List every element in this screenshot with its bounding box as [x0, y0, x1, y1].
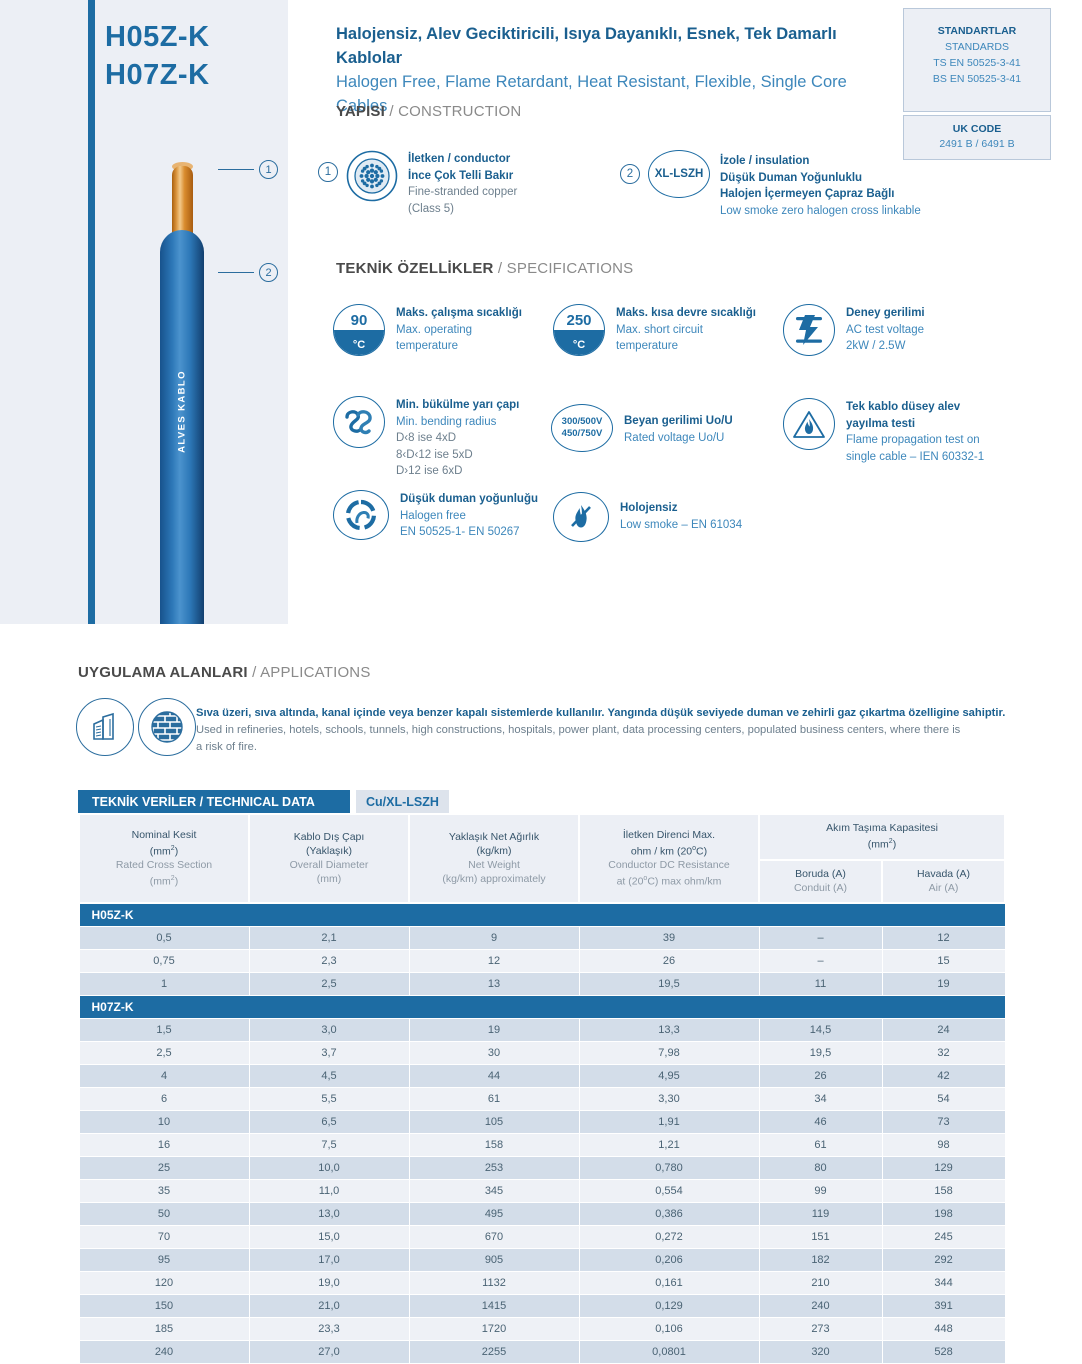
table-cell: 2,1	[249, 926, 409, 949]
spec-halogen-free: Holojensiz Low smoke – EN 61034	[553, 492, 742, 542]
spec-3-line3: 2kW / 2.5W	[846, 338, 925, 355]
table-cell: 120	[79, 1271, 249, 1294]
table-cell: 26	[579, 949, 759, 972]
table-row: 15021,014150,129240391	[79, 1294, 1005, 1317]
table-cell: –	[759, 926, 882, 949]
table-cell: 50	[79, 1202, 249, 1225]
table-cell: 44	[409, 1064, 579, 1087]
spec-4-line4: 8‹D‹12 ise 5xD	[396, 447, 519, 464]
conduit-en: Conduit (A)	[762, 881, 879, 895]
table-row: 7015,06700,272151245	[79, 1225, 1005, 1248]
cable-illustration: ALVES KABLO	[150, 148, 220, 624]
construction-item-1-text: İletken / conductor İnce Çok Telli Bakır…	[408, 150, 517, 217]
spec-1-unit: °C	[333, 339, 385, 351]
callout-2: 2	[218, 263, 278, 282]
spec-6-title-2: yayılma testi	[846, 416, 984, 433]
table-cell: 15	[882, 949, 1005, 972]
spec-7-line3: EN 50525-1- EN 50267	[400, 524, 538, 541]
table-cell: 35	[79, 1179, 249, 1202]
table-cell: 24	[882, 1018, 1005, 1041]
conduit-tr: Boruda (A)	[762, 867, 879, 881]
table-cell: 19,5	[579, 972, 759, 995]
conductor-title: İletken / conductor	[408, 151, 517, 168]
table-cell: 99	[759, 1179, 882, 1202]
col3-en-2: (kg/km) approximately	[412, 872, 576, 886]
table-cell: 185	[79, 1317, 249, 1340]
specifications-heading: TEKNİK ÖZELLİKLER / SPECIFICATIONS	[336, 260, 633, 277]
rated-voltage-icon: 300/500V 450/750V	[551, 404, 613, 452]
stranded-conductor-icon	[346, 150, 398, 207]
col2-tr-2: (Yaklaşık)	[252, 844, 406, 858]
table-group-label: H05Z-K	[79, 903, 1005, 927]
table-cell: 158	[882, 1179, 1005, 1202]
col-current-conduit: Boruda (A) Conduit (A)	[759, 860, 882, 903]
table-cell: 240	[79, 1340, 249, 1363]
table-cell: 3,30	[579, 1087, 759, 1110]
table-cell: 448	[882, 1317, 1005, 1340]
table-cell: 1720	[409, 1317, 579, 1340]
table-row: 12,51319,51119	[79, 972, 1005, 995]
col-current-capacity-group: Akım Taşıma Kapasitesi (mm2)	[759, 814, 1005, 860]
table-cell: 2,3	[249, 949, 409, 972]
spec-2-line3: temperature	[616, 338, 756, 355]
table-row: 18523,317200,106273448	[79, 1317, 1005, 1340]
spec-2-title: Maks. kısa devre sıcaklığı	[616, 305, 756, 322]
table-cell: 1	[79, 972, 249, 995]
specifications-heading-en: SPECIFICATIONS	[507, 260, 634, 277]
construction-item-conductor: 1 İletken / conductor İnce Ç	[318, 150, 517, 217]
spec-1-line3: temperature	[396, 338, 522, 355]
spec-3-title: Deney gerilimi	[846, 305, 925, 322]
table-cell: 70	[79, 1225, 249, 1248]
standards-title-en: STANDARDS	[910, 39, 1044, 55]
table-cell: 345	[409, 1179, 579, 1202]
spec-2-value: 250	[553, 312, 605, 329]
table-cell: 198	[882, 1202, 1005, 1225]
table-cell: 151	[759, 1225, 882, 1248]
table-cell: 905	[409, 1248, 579, 1271]
spec-2-text: Maks. kısa devre sıcaklığı Max. short ci…	[616, 304, 756, 355]
spec-ac-test-voltage: Deney gerilimi AC test voltage 2kW / 2.5…	[783, 304, 925, 356]
construction-heading-sep: /	[385, 103, 398, 120]
technical-data-table: Nominal Kesit (mm2) Rated Cross Section …	[78, 813, 1006, 1364]
air-tr: Havada (A)	[885, 867, 1002, 881]
col4-en-2: at (20oC) max ohm/km	[582, 872, 756, 889]
spec-4-title: Min. bükülme yarı çapı	[396, 397, 519, 414]
applications-text-tr: Sıva üzeri, sıva altında, kanal içinde v…	[196, 705, 1018, 722]
table-cell: 39	[579, 926, 759, 949]
standards-line-2: BS EN 50525-3-41	[910, 71, 1044, 87]
low-smoke-density-icon	[333, 490, 389, 540]
spec-5-title: Beyan gerilimi Uo/U	[624, 413, 733, 430]
col3-en-1: Net Weight	[412, 858, 576, 872]
xl-lszh-label: XL-LSZH	[648, 150, 710, 198]
table-material-badge: Cu/XL-LSZH	[356, 790, 449, 813]
table-cell: 150	[79, 1294, 249, 1317]
callout-1-number: 1	[259, 160, 278, 179]
spec-flame-propagation: Tek kablo düsey alev yayılma testi Flame…	[783, 398, 984, 465]
table-cell: 25	[79, 1156, 249, 1179]
table-cell: 129	[882, 1156, 1005, 1179]
building-icon	[76, 698, 134, 756]
table-cell: 0,386	[579, 1202, 759, 1225]
table-cell: 2,5	[249, 972, 409, 995]
xl-lszh-badge-icon: XL-LSZH	[648, 150, 710, 198]
bending-radius-icon	[333, 396, 385, 448]
table-cell: 0,75	[79, 949, 249, 972]
table-cell: 17,0	[249, 1248, 409, 1271]
col1-en-1: Rated Cross Section	[82, 858, 246, 872]
table-cell: 245	[882, 1225, 1005, 1248]
applications-text-en-2: a risk of fire.	[196, 739, 1018, 756]
spec-6-line2: Flame propagation test on	[846, 432, 984, 449]
application-icons	[76, 698, 196, 756]
table-cell: 182	[759, 1248, 882, 1271]
table-cell: 670	[409, 1225, 579, 1248]
table-row: 0,52,1939–12	[79, 926, 1005, 949]
callout-line	[218, 169, 254, 171]
spec-4-line2: Min. bending radius	[396, 414, 519, 431]
table-cell: 0,554	[579, 1179, 759, 1202]
table-cell: –	[759, 949, 882, 972]
table-cell: 3,0	[249, 1018, 409, 1041]
col-rated-cross-section: Nominal Kesit (mm2) Rated Cross Section …	[79, 814, 249, 903]
table-cell: 15,0	[249, 1225, 409, 1248]
col1-en-2: (mm2)	[82, 872, 246, 889]
spec-8-title: Holojensiz	[620, 500, 742, 517]
table-row: 3511,03450,55499158	[79, 1179, 1005, 1202]
table-cell: 11	[759, 972, 882, 995]
table-cell: 2,5	[79, 1041, 249, 1064]
table-cell: 0,272	[579, 1225, 759, 1248]
halogen-free-icon	[553, 492, 609, 542]
table-cell: 23,3	[249, 1317, 409, 1340]
table-group-row: H05Z-K	[79, 903, 1005, 927]
table-cell: 16	[79, 1133, 249, 1156]
col-net-weight: Yaklaşık Net Ağırlık (kg/km) Net Weight …	[409, 814, 579, 903]
table-cell: 95	[79, 1248, 249, 1271]
spec-4-line5: D›12 ise 6xD	[396, 463, 519, 480]
spec-7-title: Düşük duman yoğunluğu	[400, 491, 538, 508]
table-cell: 98	[882, 1133, 1005, 1156]
table-header-row-1: Nominal Kesit (mm2) Rated Cross Section …	[79, 814, 1005, 860]
col1-tr-2: (mm2)	[82, 842, 246, 859]
table-row: 1,53,01913,314,524	[79, 1018, 1005, 1041]
construction-item-1-number: 1	[318, 162, 338, 182]
table-title: TEKNİK VERİLER / TECHNICAL DATA	[78, 790, 350, 813]
table-row: 65,5613,303454	[79, 1087, 1005, 1110]
table-cell: 10,0	[249, 1156, 409, 1179]
table-cell: 61	[759, 1133, 882, 1156]
standards-main: STANDARTLAR STANDARDS TS EN 50525-3-41 B…	[903, 8, 1051, 112]
spec-rated-voltage: 300/500V 450/750V Beyan gerilimi Uo/U Ra…	[551, 404, 733, 452]
table-cell: 12	[882, 926, 1005, 949]
table-cell: 13,3	[579, 1018, 759, 1041]
spec-bending-radius: Min. bükülme yarı çapı Min. bending radi…	[333, 396, 519, 480]
uk-code-value: 2491 B / 6491 B	[908, 137, 1046, 152]
spec-6-text: Tek kablo düsey alev yayılma testi Flame…	[846, 398, 984, 465]
copper-core	[172, 166, 193, 238]
table-row: 2,53,7307,9819,532	[79, 1041, 1005, 1064]
table-cell: 7,98	[579, 1041, 759, 1064]
table-cell: 4,95	[579, 1064, 759, 1087]
max-operating-temperature-icon: 90 °C	[333, 304, 385, 356]
table-cell: 19,5	[759, 1041, 882, 1064]
specifications-heading-sep: /	[494, 260, 507, 277]
product-code-1: H05Z-K	[105, 18, 275, 56]
spec-8-line2: Low smoke – EN 61034	[620, 517, 742, 534]
table-row: 9517,09050,206182292	[79, 1248, 1005, 1271]
table-cell: 61	[409, 1087, 579, 1110]
table-cell: 6,5	[249, 1110, 409, 1133]
accent-bar	[88, 0, 95, 624]
insulation-line2: Düşük Duman Yoğunluklu	[720, 170, 921, 187]
table-cell: 6	[79, 1087, 249, 1110]
table-cell: 0,129	[579, 1294, 759, 1317]
table-cell: 10	[79, 1110, 249, 1133]
table-row: 0,752,31226–15	[79, 949, 1005, 972]
col1-tr-1: Nominal Kesit	[82, 828, 246, 842]
table-row: 44,5444,952642	[79, 1064, 1005, 1087]
col-current-air: Havada (A) Air (A)	[882, 860, 1005, 903]
callout-line	[218, 272, 254, 274]
uk-code-box: UK CODE 2491 B / 6491 B	[903, 115, 1051, 160]
insulation-title: İzole / insulation	[720, 153, 921, 170]
conductor-line2: İnce Çok Telli Bakır	[408, 168, 517, 185]
table-cell: 1,91	[579, 1110, 759, 1133]
table-body: H05Z-K0,52,1939–120,752,31226–1512,51319…	[79, 903, 1005, 1364]
table-cell: 240	[759, 1294, 882, 1317]
spec-4-line3: D‹8 ise 4xD	[396, 430, 519, 447]
table-cell: 391	[882, 1294, 1005, 1317]
table-cell: 27,0	[249, 1340, 409, 1363]
standards-line-1: TS EN 50525-3-41	[910, 55, 1044, 71]
col-dc-resistance: İletken Direnci Max. ohm / km (20oC) Con…	[579, 814, 759, 903]
current-group-tr-1: Akım Taşıma Kapasitesi	[762, 821, 1002, 835]
table-cell: 0,780	[579, 1156, 759, 1179]
rated-voltage-line-1: 300/500V	[562, 416, 603, 428]
current-group-tr-2: (mm2)	[762, 835, 1002, 852]
table-cell: 253	[409, 1156, 579, 1179]
table-group-row: H07Z-K	[79, 995, 1005, 1018]
col4-tr-1: İletken Direnci Max.	[582, 828, 756, 842]
table-cell: 1,21	[579, 1133, 759, 1156]
standards-box: STANDARTLAR STANDARDS TS EN 50525-3-41 B…	[903, 8, 1051, 160]
table-cell: 119	[759, 1202, 882, 1225]
spec-8-text: Holojensiz Low smoke – EN 61034	[620, 492, 742, 533]
construction-heading-tr: YAPISI	[336, 103, 385, 120]
spec-4-text: Min. bükülme yarı çapı Min. bending radi…	[396, 396, 519, 480]
applications-heading-sep: /	[248, 664, 260, 681]
spec-max-operating-temperature: 90 °C Maks. çalışma sıcaklığı Max. opera…	[333, 304, 522, 356]
table-cell: 273	[759, 1317, 882, 1340]
table-cell: 292	[882, 1248, 1005, 1271]
table-cell: 4	[79, 1064, 249, 1087]
construction-heading-en: CONSTRUCTION	[398, 103, 521, 120]
applications-heading: UYGULAMA ALANLARI / APPLICATIONS	[78, 664, 371, 681]
rated-voltage-line-2: 450/750V	[562, 428, 603, 440]
table-row: 106,51051,914673	[79, 1110, 1005, 1133]
cable-brand-text: ALVES KABLO	[177, 342, 188, 482]
conductor-line4: (Class 5)	[408, 201, 517, 218]
table-row: 5013,04950,386119198	[79, 1202, 1005, 1225]
table-cell: 4,5	[249, 1064, 409, 1087]
col3-tr-1: Yaklaşık Net Ağırlık	[412, 830, 576, 844]
table-cell: 3,7	[249, 1041, 409, 1064]
product-code-block: H05Z-K H07Z-K	[105, 18, 275, 94]
table-cell: 0,161	[579, 1271, 759, 1294]
construction-item-2-text: İzole / insulation Düşük Duman Yoğunlukl…	[720, 152, 921, 219]
table-cell: 495	[409, 1202, 579, 1225]
table-cell: 54	[882, 1087, 1005, 1110]
table-cell: 80	[759, 1156, 882, 1179]
insulation-line3: Halojen İçermeyen Çapraz Bağlı	[720, 186, 921, 203]
insulation-line4: Low smoke zero halogen cross linkable	[720, 203, 921, 220]
spec-1-value: 90	[333, 312, 385, 329]
table-cell: 42	[882, 1064, 1005, 1087]
table-cell: 0,5	[79, 926, 249, 949]
table-cell: 12	[409, 949, 579, 972]
table-cell: 9	[409, 926, 579, 949]
table-cell: 158	[409, 1133, 579, 1156]
table-cell: 320	[759, 1340, 882, 1363]
col2-tr-1: Kablo Dış Çapı	[252, 830, 406, 844]
spec-5-text: Beyan gerilimi Uo/U Rated voltage Uo/U	[624, 404, 733, 446]
table-cell: 1132	[409, 1271, 579, 1294]
construction-item-insulation: 2 XL-LSZH İzole / insulation Düşük Duman…	[620, 152, 921, 219]
table-header-bar: TEKNİK VERİLER / TECHNICAL DATA Cu/XL-LS…	[78, 790, 1004, 813]
table-row: 2510,02530,78080129	[79, 1156, 1005, 1179]
spec-low-smoke-density: Düşük duman yoğunluğu Halogen free EN 50…	[333, 490, 538, 541]
spec-1-line2: Max. operating	[396, 322, 522, 339]
col2-en-1: Overall Diameter	[252, 858, 406, 872]
table-cell: 1415	[409, 1294, 579, 1317]
col4-tr-2: ohm / km (20oC)	[582, 842, 756, 859]
table-cell: 210	[759, 1271, 882, 1294]
table-cell: 11,0	[249, 1179, 409, 1202]
table-cell: 5,5	[249, 1087, 409, 1110]
table-cell: 19	[882, 972, 1005, 995]
spec-5-line2: Rated voltage Uo/U	[624, 430, 733, 447]
col2-en-2: (mm)	[252, 872, 406, 886]
conductor-line3: Fine-stranded copper	[408, 184, 517, 201]
table-cell: 7,5	[249, 1133, 409, 1156]
table-cell: 13	[409, 972, 579, 995]
table-row: 12019,011320,161210344	[79, 1271, 1005, 1294]
spec-3-line2: AC test voltage	[846, 322, 925, 339]
table-cell: 19	[409, 1018, 579, 1041]
table-cell: 2255	[409, 1340, 579, 1363]
spec-3-text: Deney gerilimi AC test voltage 2kW / 2.5…	[846, 304, 925, 355]
spec-6-title: Tek kablo düsey alev	[846, 399, 984, 416]
table-cell: 73	[882, 1110, 1005, 1133]
table-cell: 30	[409, 1041, 579, 1064]
spec-max-short-circuit-temperature: 250 °C Maks. kısa devre sıcaklığı Max. s…	[553, 304, 756, 356]
table-cell: 1,5	[79, 1018, 249, 1041]
max-short-circuit-temperature-icon: 250 °C	[553, 304, 605, 356]
air-en: Air (A)	[885, 881, 1002, 895]
table-cell: 19,0	[249, 1271, 409, 1294]
spec-7-line2: Halogen free	[400, 508, 538, 525]
table-cell: 0,206	[579, 1248, 759, 1271]
table-cell: 32	[882, 1041, 1005, 1064]
col4-en-1: Conductor DC Resistance	[582, 858, 756, 872]
spec-6-line3: single cable – IEN 60332-1	[846, 449, 984, 466]
product-title-tr: Halojensiz, Alev Geciktiricili, Isıya Da…	[336, 22, 891, 70]
callout-1: 1	[218, 160, 278, 179]
spec-2-line2: Max. short circuit	[616, 322, 756, 339]
table-cell: 21,0	[249, 1294, 409, 1317]
applications-text-en-1: Used in refineries, hotels, schools, tun…	[196, 722, 1018, 739]
table-cell: 0,106	[579, 1317, 759, 1340]
construction-heading: YAPISI / CONSTRUCTION	[336, 103, 521, 120]
applications-heading-en: APPLICATIONS	[260, 664, 370, 681]
table-cell: 26	[759, 1064, 882, 1087]
table-cell: 528	[882, 1340, 1005, 1363]
table-cell: 0,0801	[579, 1340, 759, 1363]
spec-2-unit: °C	[553, 339, 605, 351]
table-group-label: H07Z-K	[79, 995, 1005, 1018]
spec-1-text: Maks. çalışma sıcaklığı Max. operating t…	[396, 304, 522, 355]
table-row: 167,51581,216198	[79, 1133, 1005, 1156]
brick-wall-icon	[138, 698, 196, 756]
uk-code-label: UK CODE	[908, 122, 1046, 137]
table-cell: 105	[409, 1110, 579, 1133]
technical-data-section: TEKNİK VERİLER / TECHNICAL DATA Cu/XL-LS…	[78, 790, 1004, 1364]
table-cell: 13,0	[249, 1202, 409, 1225]
table-cell: 344	[882, 1271, 1005, 1294]
table-cell: 14,5	[759, 1018, 882, 1041]
spec-7-text: Düşük duman yoğunluğu Halogen free EN 50…	[400, 490, 538, 541]
table-cell: 46	[759, 1110, 882, 1133]
spec-1-title: Maks. çalışma sıcaklığı	[396, 305, 522, 322]
callout-2-number: 2	[259, 263, 278, 282]
table-row: 24027,022550,0801320528	[79, 1340, 1005, 1363]
ac-test-voltage-icon	[783, 304, 835, 356]
col-overall-diameter: Kablo Dış Çapı (Yaklaşık) Overall Diamet…	[249, 814, 409, 903]
flame-propagation-icon	[783, 398, 835, 450]
specifications-heading-tr: TEKNİK ÖZELLİKLER	[336, 260, 494, 277]
applications-heading-tr: UYGULAMA ALANLARI	[78, 664, 248, 681]
applications-text: Sıva üzeri, sıva altında, kanal içinde v…	[196, 705, 1018, 756]
standards-title-tr: STANDARTLAR	[910, 23, 1044, 39]
table-cell: 34	[759, 1087, 882, 1110]
product-code-2: H07Z-K	[105, 56, 275, 94]
construction-item-2-number: 2	[620, 164, 640, 184]
col3-tr-2: (kg/km)	[412, 844, 576, 858]
